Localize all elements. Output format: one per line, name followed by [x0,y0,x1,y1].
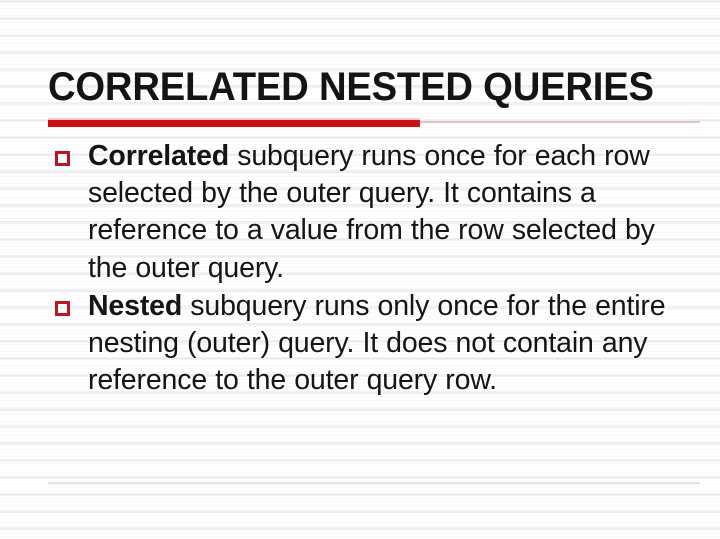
hollow-square-bullet-icon [55,301,70,316]
slide-bullet-list: Correlated subquery runs once for each r… [48,138,696,400]
list-item-text: Nested subquery runs only once for the e… [88,288,696,400]
list-item: Nested subquery runs only once for the e… [48,288,696,400]
page-title: CORRELATED NESTED QUERIES [48,64,674,110]
title-rule-highlight [48,118,420,120]
list-item-lead-term: Nested [88,290,182,322]
list-item-lead-term: Correlated [88,140,229,172]
slide-title-block: CORRELATED NESTED QUERIES [48,64,704,110]
list-item-text: Correlated subquery runs once for each r… [88,138,696,287]
hollow-square-bullet-icon [55,151,70,166]
presentation-slide: CORRELATED NESTED QUERIES Correlated sub… [0,0,720,539]
list-item: Correlated subquery runs once for each r… [48,138,696,287]
footer-divider [48,482,700,484]
title-underline-rule [48,118,700,127]
title-rule-thick-segment [48,118,420,127]
